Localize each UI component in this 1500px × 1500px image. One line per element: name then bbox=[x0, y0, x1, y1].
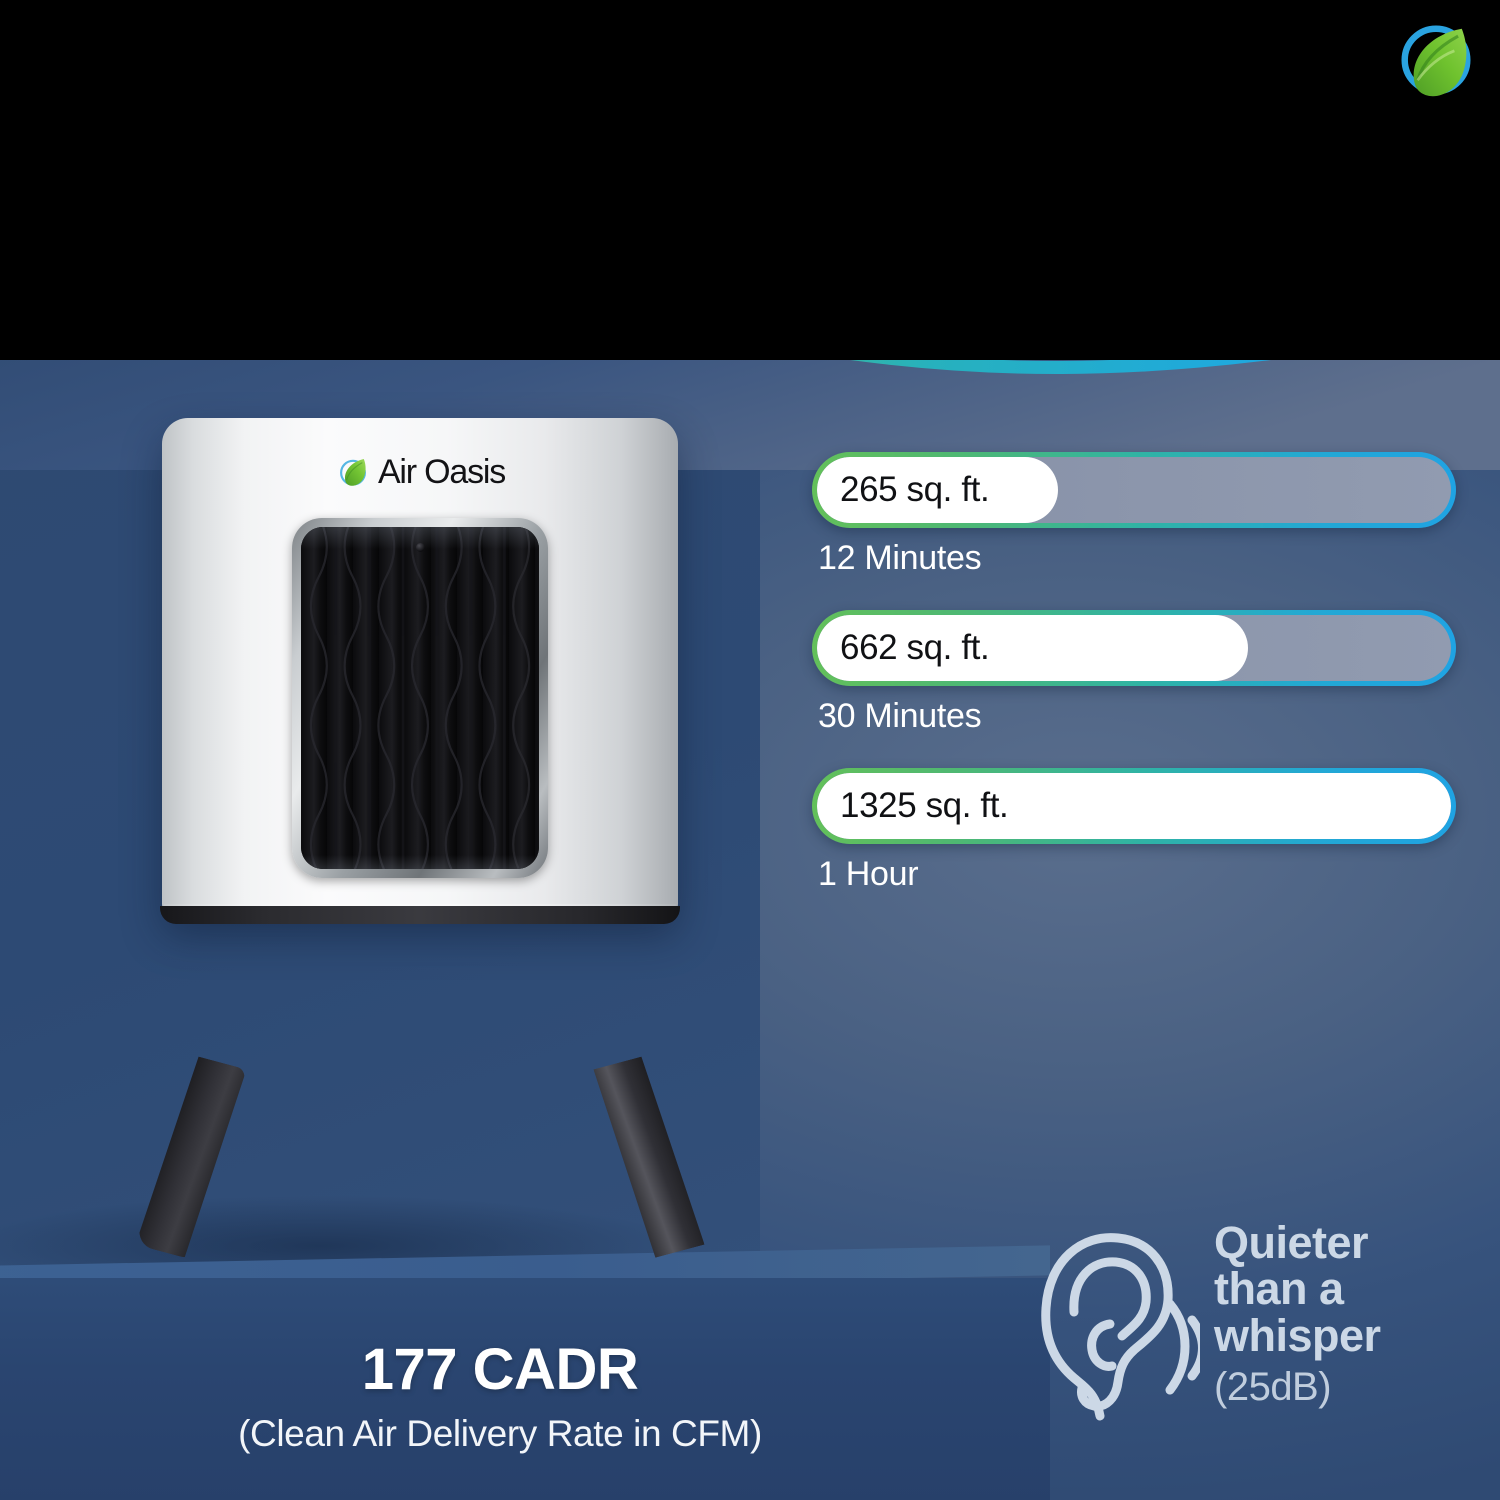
hero-band bbox=[0, 0, 1500, 360]
coverage-metrics-list: 265 sq. ft. 12 Minutes 662 sq. ft. 30 Mi… bbox=[812, 452, 1462, 926]
product-legs bbox=[80, 880, 800, 1180]
coverage-bar-2-time: 30 Minutes bbox=[818, 697, 1462, 736]
metric-row: 662 sq. ft. 30 Minutes bbox=[812, 610, 1462, 736]
coverage-bar-2: 662 sq. ft. bbox=[812, 610, 1456, 686]
grille-bottom-highlight bbox=[301, 855, 539, 869]
ear-with-soundwaves-icon bbox=[1030, 1216, 1200, 1431]
product-grille-bezel bbox=[292, 518, 548, 878]
product-brand-name: Air Oasis bbox=[378, 453, 505, 492]
product-leg-right bbox=[593, 1053, 704, 1260]
coverage-bar-1-label: 265 sq. ft. bbox=[840, 452, 989, 528]
cadr-description: (Clean Air Delivery Rate in CFM) bbox=[0, 1413, 1000, 1455]
grille-wave-pattern bbox=[301, 527, 539, 869]
metric-row: 265 sq. ft. 12 Minutes bbox=[812, 452, 1462, 578]
noise-line-2: than a bbox=[1214, 1266, 1381, 1312]
noise-level-text: Quieter than a whisper (25dB) bbox=[1214, 1208, 1381, 1410]
leaf-in-circle-logo-icon bbox=[1390, 14, 1482, 106]
coverage-bar-1-time: 12 Minutes bbox=[818, 539, 1462, 578]
product-grille bbox=[301, 527, 539, 869]
coverage-bar-3-label: 1325 sq. ft. bbox=[840, 768, 1008, 844]
cadr-value: 177 CADR bbox=[0, 1336, 1000, 1403]
cadr-block: 177 CADR (Clean Air Delivery Rate in CFM… bbox=[0, 1336, 1000, 1455]
product-leaf-icon bbox=[335, 454, 371, 490]
sensor-dot-icon bbox=[416, 543, 425, 552]
product-brand-logo: Air Oasis bbox=[162, 448, 678, 496]
metric-row: 1325 sq. ft. 1 Hour bbox=[812, 768, 1462, 894]
coverage-bar-3-time: 1 Hour bbox=[818, 855, 1462, 894]
product-base bbox=[160, 906, 680, 924]
coverage-bar-1: 265 sq. ft. bbox=[812, 452, 1456, 528]
product-leg-left bbox=[135, 1053, 246, 1260]
noise-line-1: Quieter bbox=[1214, 1220, 1381, 1266]
infographic-canvas: Silent Strength, Superior Clean bbox=[0, 0, 1500, 1500]
coverage-bar-2-label: 662 sq. ft. bbox=[840, 610, 989, 686]
coverage-bar-3: 1325 sq. ft. bbox=[812, 768, 1456, 844]
noise-decibels: (25dB) bbox=[1214, 1365, 1381, 1410]
noise-line-3: whisper bbox=[1214, 1313, 1381, 1359]
product-image: Air Oasis bbox=[80, 400, 800, 1280]
noise-level-block: Quieter than a whisper (25dB) bbox=[1030, 1208, 1490, 1458]
